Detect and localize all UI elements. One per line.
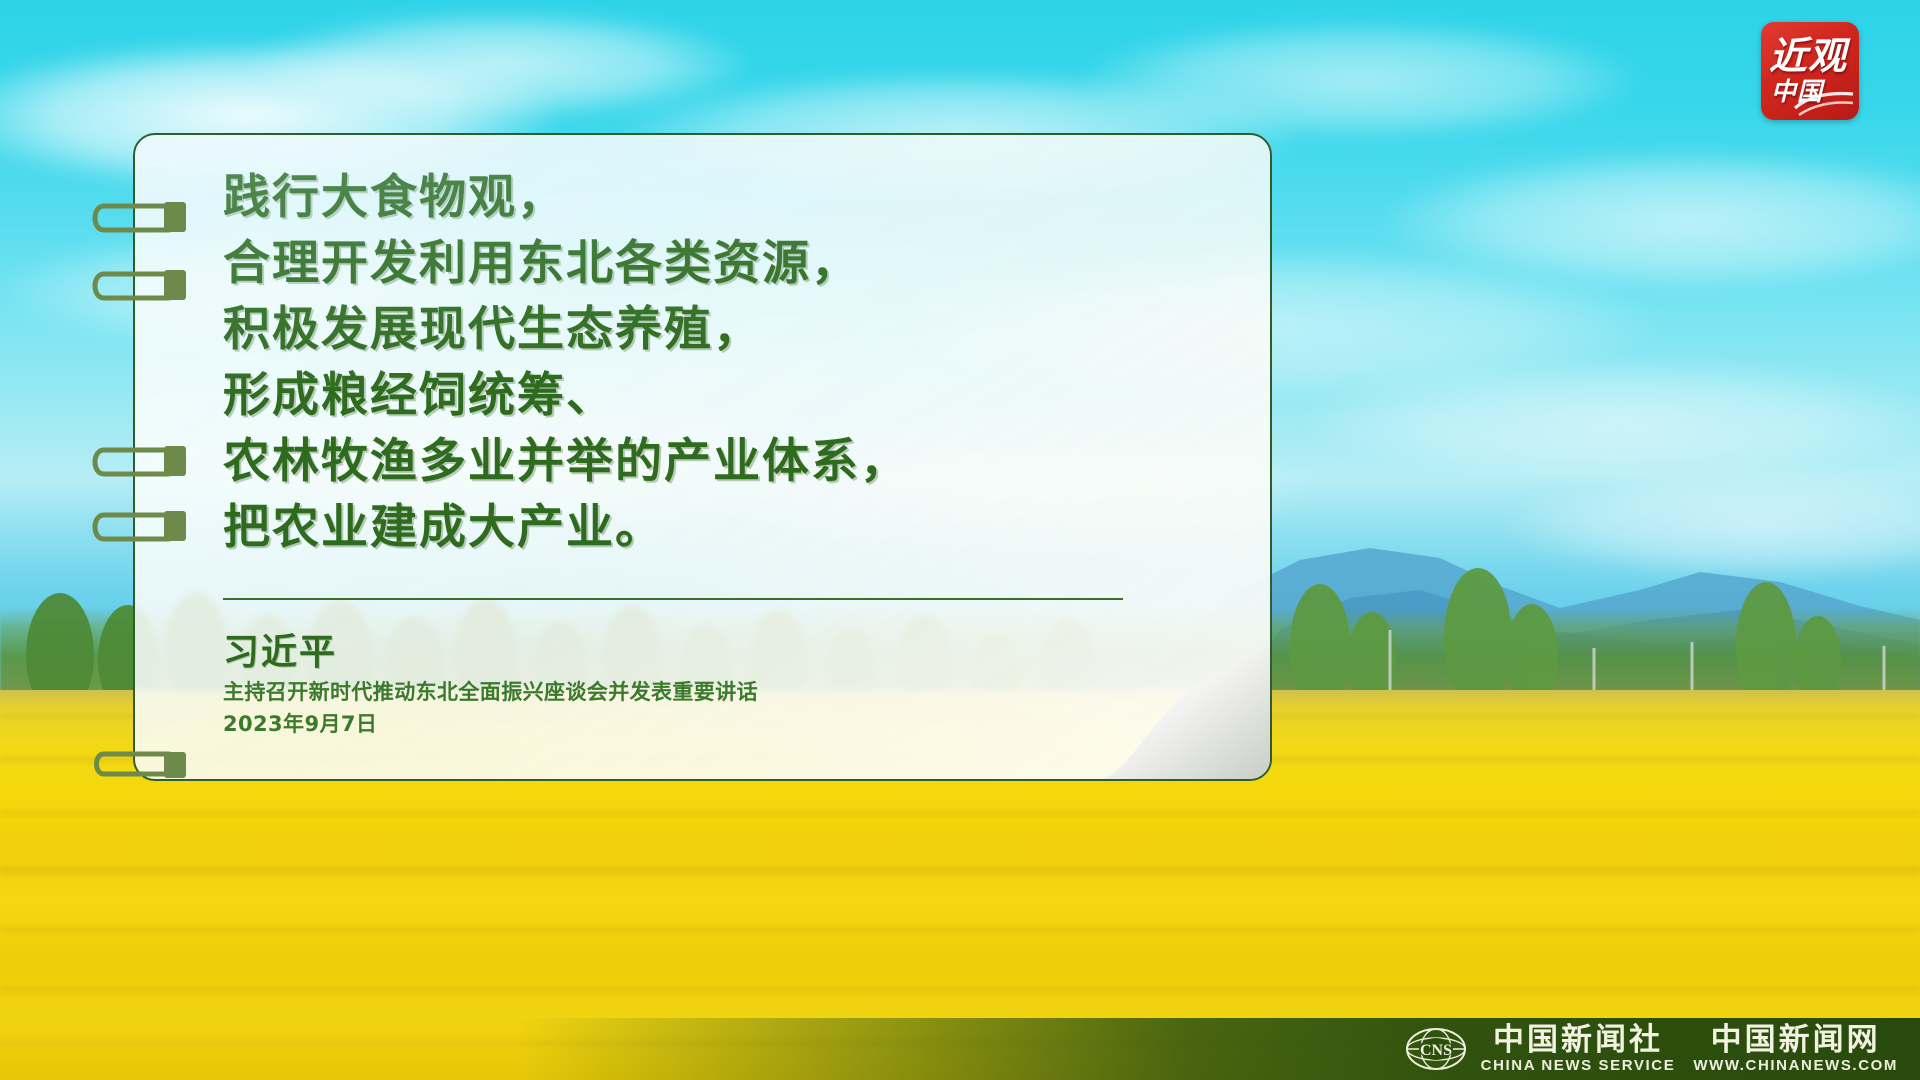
- occasion-text: 主持召开新时代推动东北全面振兴座谈会并发表重要讲话: [223, 676, 758, 708]
- jinguan-zhongguo-logo[interactable]: 近观 中国: [1761, 22, 1859, 120]
- quote-line: 把农业建成大产业。: [223, 495, 1223, 561]
- quote-line: 形成粮经饲统筹、: [223, 363, 1223, 429]
- quote-line: 农林牧渔多业并举的产业体系，: [223, 429, 1223, 495]
- footer-watermark-bar: CNS 中国新闻社 CHINA NEWS SERVICE 中国新闻网 WWW.C…: [0, 1018, 1920, 1080]
- brand-group: 中国新闻社 CHINA NEWS SERVICE 中国新闻网 WWW.CHINA…: [1481, 1023, 1898, 1075]
- quote-line: 践行大食物观，: [223, 165, 1223, 231]
- page-curl: [1040, 589, 1270, 779]
- quote-line: 合理开发利用东北各类资源，: [223, 231, 1223, 297]
- attribution-block: 习近平 主持召开新时代推动东北全面振兴座谈会并发表重要讲话 2023年9月7日: [223, 630, 758, 740]
- divider-rule: [223, 598, 1123, 600]
- site-url: WWW.CHINANEWS.COM: [1693, 1057, 1898, 1075]
- binding-ring: [88, 505, 198, 549]
- site-brand[interactable]: 中国新闻网 WWW.CHINANEWS.COM: [1693, 1023, 1898, 1075]
- quote-card: 践行大食物观， 合理开发利用东北各类资源， 积极发展现代生态养殖， 形成粮经饲统…: [133, 133, 1272, 781]
- logo-primary-text: 近观: [1769, 36, 1851, 76]
- site-name-cn: 中国新闻网: [1711, 1023, 1881, 1057]
- cns-globe-icon: CNS: [1405, 1026, 1467, 1072]
- agency-brand: 中国新闻社 CHINA NEWS SERVICE: [1481, 1023, 1676, 1075]
- binding-ring: [88, 740, 198, 784]
- binding-ring: [88, 440, 198, 484]
- cloud-shape: [1080, 20, 1640, 140]
- quote-text-block: 践行大食物观， 合理开发利用东北各类资源， 积极发展现代生态养殖， 形成粮经饲统…: [223, 165, 1223, 561]
- speaker-name: 习近平: [223, 630, 758, 676]
- agency-name-en: CHINA NEWS SERVICE: [1481, 1057, 1676, 1075]
- quote-line: 积极发展现代生态养殖，: [223, 297, 1223, 363]
- logo-swoosh-icon: [1793, 82, 1855, 118]
- binding-ring: [88, 264, 198, 308]
- binding-ring: [88, 196, 198, 240]
- agency-name-cn: 中国新闻社: [1493, 1023, 1663, 1057]
- cns-globe-label: CNS: [1420, 1042, 1452, 1059]
- date-text: 2023年9月7日: [223, 708, 758, 740]
